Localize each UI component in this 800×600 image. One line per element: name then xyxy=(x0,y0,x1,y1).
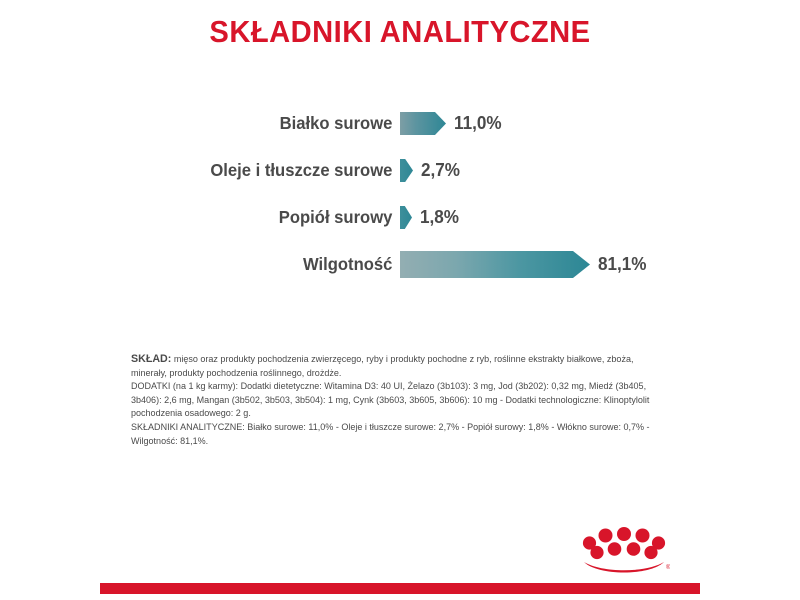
chart-row: Popiół surowy 1,8% xyxy=(0,194,800,241)
bottom-red-bar xyxy=(100,583,700,594)
composition-line-ingredients: SKŁAD: mięso oraz produkty pochodzenia z… xyxy=(131,353,666,380)
chart-row-label-moisture: Wilgotność xyxy=(20,241,400,288)
trademark-symbol: ® xyxy=(666,564,670,571)
chart-row-value-moisture: 81,1% xyxy=(598,241,646,288)
chart-row-label-protein: Białko surowe xyxy=(20,100,400,147)
chart-row: Oleje i tłuszcze surowe 2,7% xyxy=(0,147,800,194)
chart-row-value-ash: 1,8% xyxy=(420,194,459,241)
chart-row-label-fat: Oleje i tłuszcze surowe xyxy=(20,147,400,194)
chart-bar-wrap-moisture xyxy=(400,241,590,288)
chart-bar-protein xyxy=(400,112,446,135)
chart-bar-moisture xyxy=(400,251,590,278)
composition-line-additives: DODATKI (na 1 kg karmy): Dodatki dietety… xyxy=(131,380,666,421)
chart-row: Wilgotność 81,1% xyxy=(0,241,800,288)
composition-text-block: SKŁAD: mięso oraz produkty pochodzenia z… xyxy=(131,353,666,448)
composition-line-analytical: SKŁADNIKI ANALITYCZNE: Białko surowe: 11… xyxy=(131,421,666,448)
chart-row: Białko surowe 11,0% xyxy=(0,100,800,147)
chart-bar-wrap-protein xyxy=(400,100,446,147)
chart-row-label-ash: Popiół surowy xyxy=(20,194,400,241)
composition-lead-label: SKŁAD: xyxy=(131,353,171,365)
chart-bar-wrap-fat xyxy=(400,147,413,194)
chart-bar-fat xyxy=(400,159,413,182)
royal-canin-crown-logo: ® xyxy=(578,524,670,576)
chart-row-value-protein: 11,0% xyxy=(454,100,502,147)
page-title: SKŁADNIKI ANALITYCZNE xyxy=(24,14,776,50)
chart-bar-ash xyxy=(400,206,412,229)
analytical-constituents-chart: Białko surowe 11,0% Oleje i tłuszcze sur… xyxy=(0,100,800,288)
chart-bar-wrap-ash xyxy=(400,194,412,241)
composition-lead-text: mięso oraz produkty pochodzenia zwierzęc… xyxy=(131,354,633,378)
chart-row-value-fat: 2,7% xyxy=(421,147,460,194)
